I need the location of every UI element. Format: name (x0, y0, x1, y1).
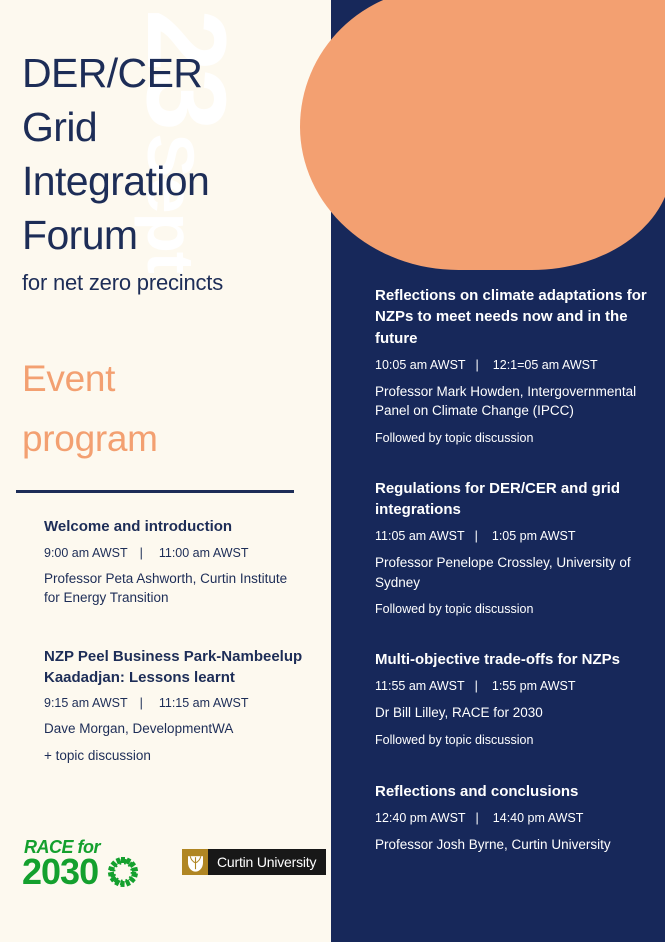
session-title: Welcome and introduction (44, 517, 306, 538)
left-column: DER/CER Grid Integration Forum for net z… (0, 0, 331, 942)
session-time-end: 11:00 am AWST (159, 546, 249, 560)
session-time-end: 11:15 am AWST (159, 696, 249, 710)
session-times: 9:15 am AWST|11:15 am AWST (44, 696, 306, 710)
session-time-end: 1:55 pm AWST (492, 679, 576, 693)
session-time-end: 1:05 pm AWST (492, 529, 576, 543)
session-note: + topic discussion (44, 747, 306, 766)
session-title: Multi-objective trade-offs for NZPs (375, 649, 647, 670)
page-subtitle: for net zero precincts (22, 270, 322, 296)
event-program-poster: 23 Sept DER/CER Grid Integration Forum f… (0, 0, 665, 942)
session-note: Followed by topic discussion (375, 601, 647, 619)
page-title: DER/CER Grid Integration Forum (22, 46, 322, 262)
session-speaker: Professor Peta Ashworth, Curtin Institut… (44, 569, 306, 607)
session-item: Welcome and introduction 9:00 am AWST|11… (44, 517, 306, 607)
logo-row: RACE for 2030 (22, 836, 326, 888)
session-time-end: 12:1=05 am AWST (493, 358, 598, 372)
session-time-separator: | (465, 529, 492, 543)
session-time-start: 10:05 am AWST (375, 358, 466, 372)
divider (16, 490, 294, 493)
curtin-university-logo: Curtin University (182, 849, 326, 875)
curtin-crest-icon (182, 849, 208, 875)
session-speaker: Professor Penelope Crossley, University … (375, 553, 647, 592)
session-time-start: 9:15 am AWST (44, 696, 128, 710)
session-time-separator: | (466, 358, 493, 372)
session-title: Reflections on climate adaptations for N… (375, 285, 647, 349)
session-times: 10:05 am AWST|12:1=05 am AWST (375, 358, 647, 372)
section-heading-event-program: Event program (22, 349, 312, 469)
session-time-separator: | (466, 811, 493, 825)
curtin-university-wordmark: Curtin University (208, 849, 326, 875)
session-time-start: 11:55 am AWST (375, 679, 465, 693)
shield-icon (187, 853, 204, 872)
race-logo-icon: RACE for 2030 (22, 836, 144, 888)
session-title: Reflections and conclusions (375, 781, 647, 802)
svg-text:2030: 2030 (22, 851, 98, 888)
session-speaker: Professor Mark Howden, Intergovernmental… (375, 382, 647, 421)
session-times: 12:40 pm AWST|14:40 pm AWST (375, 811, 647, 825)
session-time-separator: | (128, 696, 159, 710)
right-session-list: Reflections on climate adaptations for N… (375, 285, 647, 881)
session-note: Followed by topic discussion (375, 732, 647, 750)
session-note: Followed by topic discussion (375, 430, 647, 448)
session-item: Multi-objective trade-offs for NZPs 11:5… (375, 649, 647, 749)
session-time-start: 9:00 am AWST (44, 546, 128, 560)
session-time-end: 14:40 pm AWST (493, 811, 584, 825)
session-time-start: 11:05 am AWST (375, 529, 465, 543)
session-speaker: Professor Josh Byrne, Curtin University (375, 835, 647, 855)
session-speaker: Dave Morgan, DevelopmentWA (44, 719, 306, 738)
session-times: 9:00 am AWST|11:00 am AWST (44, 546, 306, 560)
session-times: 11:05 am AWST|1:05 pm AWST (375, 529, 647, 543)
race-for-2030-logo: RACE for 2030 (22, 836, 144, 888)
session-time-separator: | (465, 679, 492, 693)
session-time-start: 12:40 pm AWST (375, 811, 466, 825)
session-item: NZP Peel Business Park-Nambeelup Kaadadj… (44, 647, 306, 765)
session-speaker: Dr Bill Lilley, RACE for 2030 (375, 703, 647, 723)
session-time-separator: | (128, 546, 159, 560)
session-item: Reflections on climate adaptations for N… (375, 285, 647, 448)
session-title: NZP Peel Business Park-Nambeelup Kaadadj… (44, 647, 306, 688)
session-times: 11:55 am AWST|1:55 pm AWST (375, 679, 647, 693)
title-block: DER/CER Grid Integration Forum for net z… (22, 46, 322, 296)
left-session-list: Welcome and introduction 9:00 am AWST|11… (44, 517, 306, 793)
session-item: Reflections and conclusions 12:40 pm AWS… (375, 781, 647, 855)
session-title: Regulations for DER/CER and grid integra… (375, 478, 647, 521)
session-item: Regulations for DER/CER and grid integra… (375, 478, 647, 619)
